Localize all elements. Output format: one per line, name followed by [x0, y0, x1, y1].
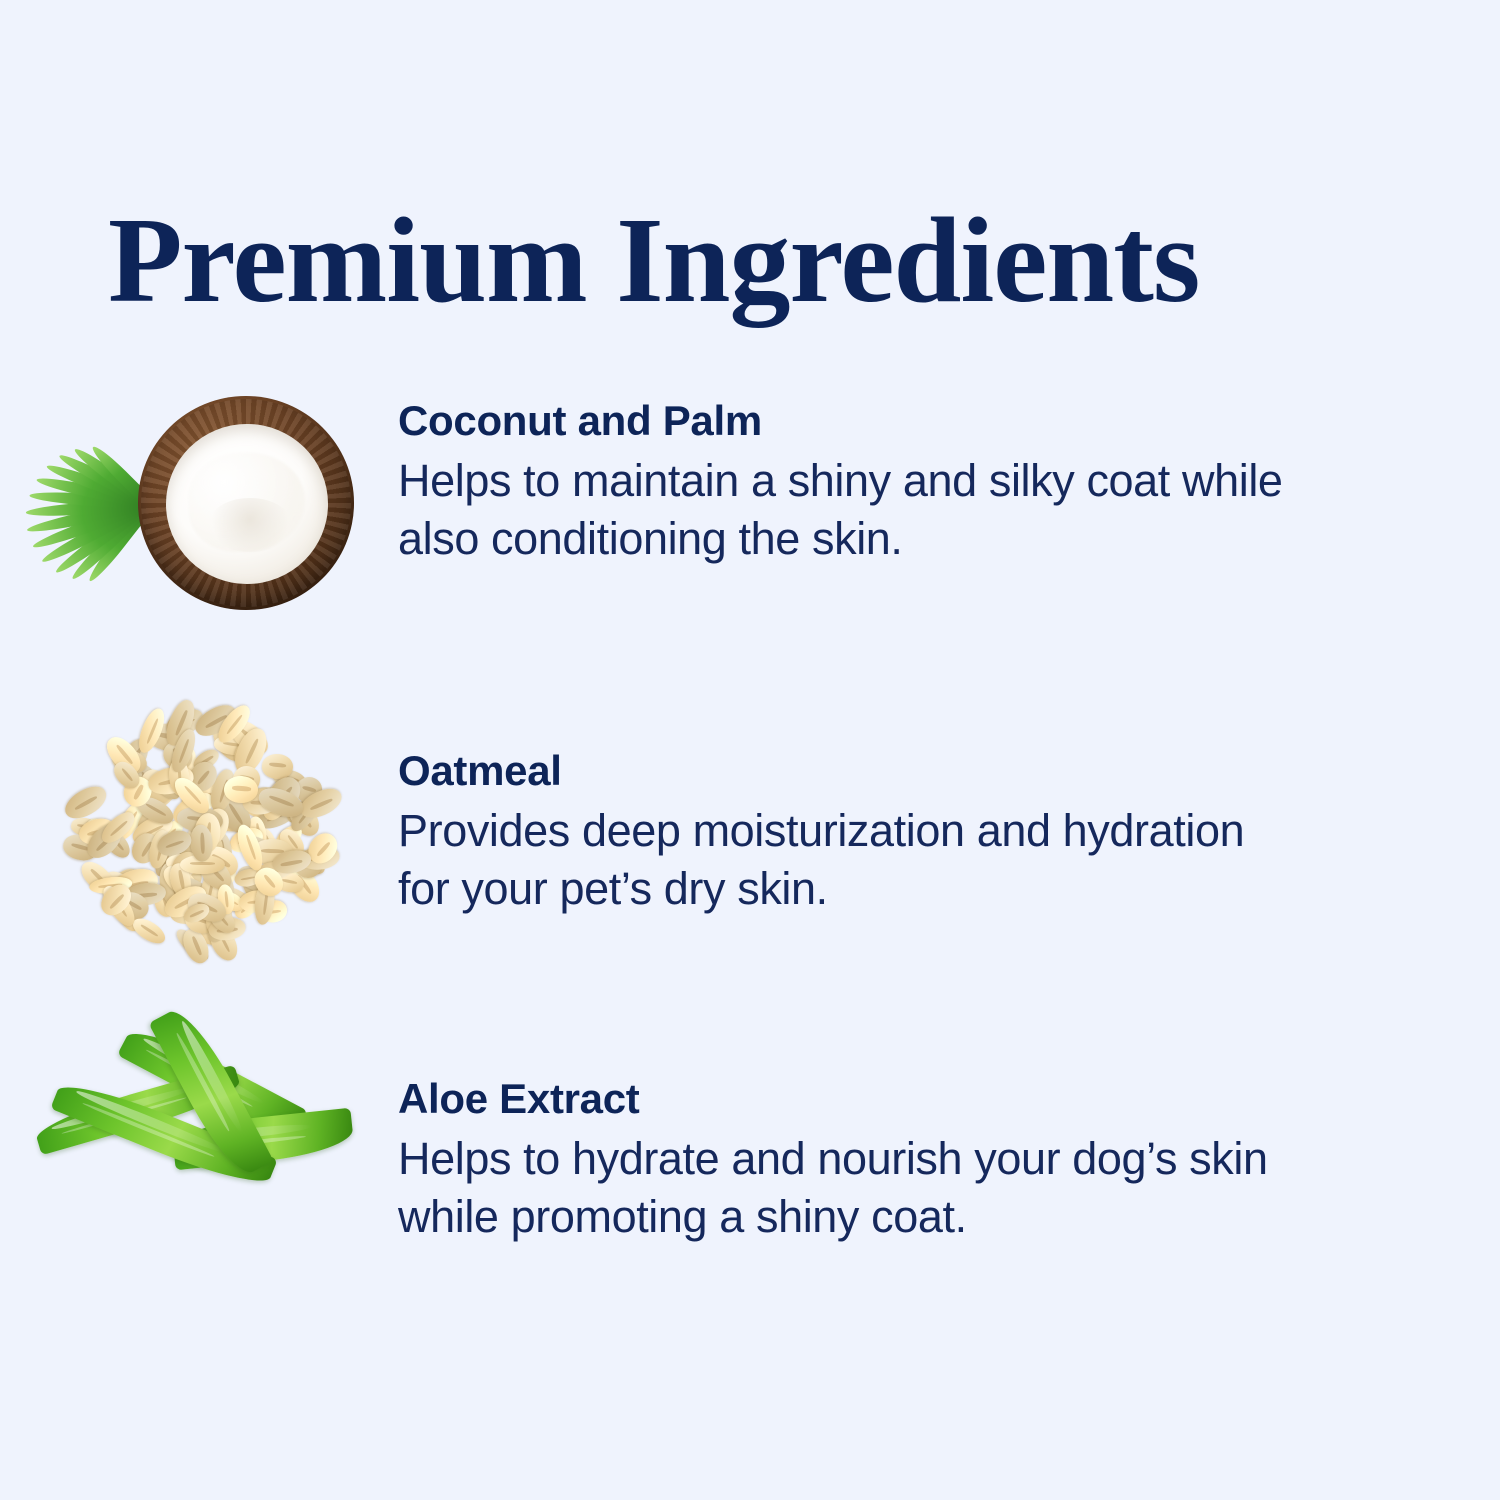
ingredient-row: Oatmeal Provides deep moisturization and… [0, 700, 1500, 965]
coconut-flesh [166, 424, 328, 584]
ingredient-description: Provides deep moisturization and hydrati… [398, 802, 1298, 917]
ingredient-text: Aloe Extract Helps to hydrate and nouris… [398, 1075, 1500, 1245]
coconut-and-palm-image [18, 354, 368, 612]
aloe-extract-image [25, 1045, 360, 1245]
ingredient-text: Oatmeal Provides deep moisturization and… [398, 747, 1500, 917]
oat-flake [129, 914, 169, 949]
ingredient-description: Helps to hydrate and nourish your dog’s … [398, 1130, 1298, 1245]
ingredient-row: Coconut and Palm Helps to maintain a shi… [0, 350, 1500, 615]
ingredient-name: Aloe Extract [398, 1075, 1350, 1122]
oatmeal-image [60, 702, 350, 962]
ingredient-thumbnail [0, 1035, 398, 1285]
ingredient-description: Helps to maintain a shiny and silky coat… [398, 452, 1298, 567]
ingredient-row: Aloe Extract Helps to hydrate and nouris… [0, 1035, 1500, 1285]
ingredient-name: Coconut and Palm [398, 397, 1350, 444]
ingredient-text: Coconut and Palm Helps to maintain a shi… [398, 397, 1500, 567]
ingredient-thumbnail [0, 350, 398, 615]
ingredient-thumbnail [0, 700, 398, 965]
ingredients-infographic: Premium Ingredients [0, 0, 1500, 1500]
ingredient-name: Oatmeal [398, 747, 1350, 794]
page-title: Premium Ingredients [108, 200, 1398, 322]
